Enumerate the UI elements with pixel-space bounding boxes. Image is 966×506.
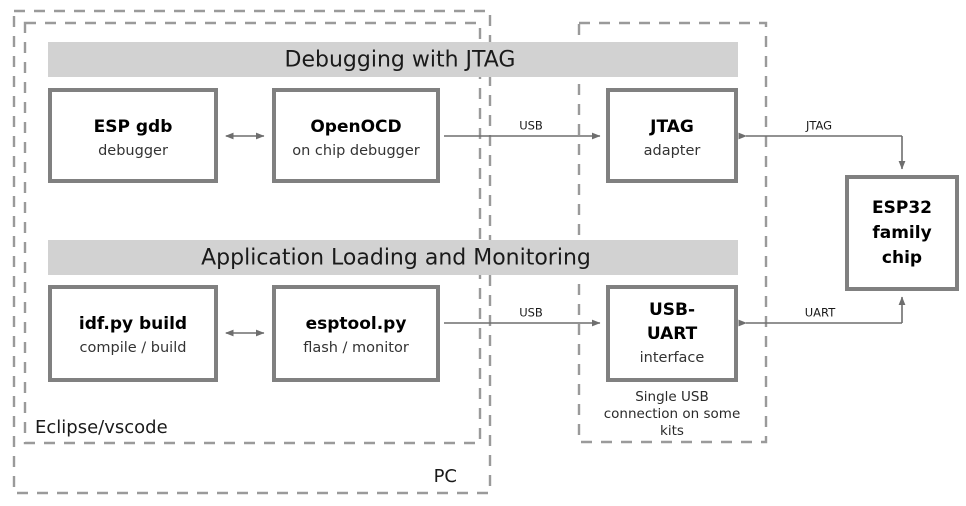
connection-esptool-usbuart-label: USB [519, 306, 543, 320]
node-esptool-title: esptool.py [306, 314, 407, 334]
node-usb-uart-title2: UART [647, 324, 698, 344]
node-openocd-title: OpenOCD [310, 117, 401, 137]
node-esp32-chip-title2: family [872, 223, 931, 243]
kit-note-line1: Single USB [635, 389, 709, 405]
node-usb-uart-title: USB- [649, 300, 695, 320]
zone-label-pc: PC [434, 466, 457, 487]
node-openocd-subtitle: on chip debugger [292, 143, 420, 159]
node-jtag-adapter-subtitle: adapter [644, 143, 701, 159]
connection-jtag-chip-label: JTAG [805, 119, 832, 133]
connection-usbuart-chip-label: UART [805, 306, 836, 320]
node-jtag-adapter-title: JTAG [649, 117, 694, 137]
node-usb-uart-subtitle: interface [640, 350, 705, 366]
band-debugging-label: Debugging with JTAG [285, 48, 516, 73]
node-esp32-chip-title: ESP32 [872, 198, 932, 218]
kit-note-line2: connection on some [604, 406, 741, 422]
node-esp-gdb-subtitle: debugger [98, 143, 168, 159]
toolchain-diagram: Eclipse/vscode PC Debugging with JTAG Ap… [0, 0, 966, 506]
node-esp-gdb-title: ESP gdb [94, 117, 173, 137]
band-loading-label: Application Loading and Monitoring [201, 246, 591, 271]
zone-label-ide: Eclipse/vscode [35, 417, 168, 438]
node-esp32-chip-title3: chip [882, 248, 922, 268]
node-idf-build-subtitle: compile / build [80, 340, 187, 356]
diagram-root: Eclipse/vscode PC Debugging with JTAG Ap… [0, 0, 966, 506]
node-esptool-subtitle: flash / monitor [303, 340, 409, 356]
node-idf-build-title: idf.py build [79, 314, 187, 334]
connection-openocd-jtag-label: USB [519, 119, 543, 133]
kit-note-line3: kits [660, 423, 684, 439]
